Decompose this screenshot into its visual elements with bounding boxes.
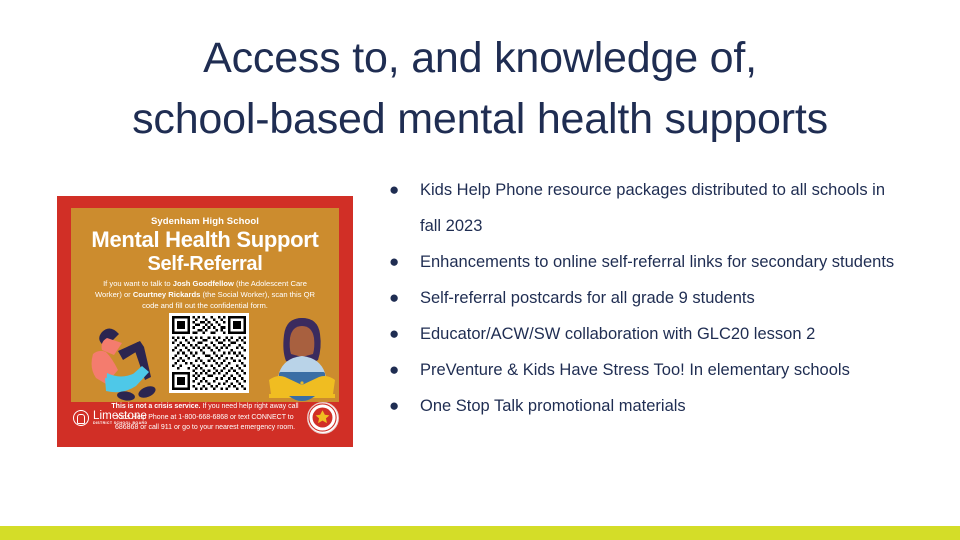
bullet-marker-icon: ● (384, 244, 420, 280)
list-item: ● Educator/ACW/SW collaboration with GLC… (384, 316, 904, 352)
list-item-text: Educator/ACW/SW collaboration with GLC20… (420, 316, 904, 352)
page-title-line-1: Access to, and knowledge of, (60, 28, 900, 89)
qr-code (169, 313, 249, 393)
poster-staff-name-2: Courtney Rickards (133, 290, 201, 299)
list-item-text: Kids Help Phone resource packages distri… (420, 172, 904, 244)
bottom-accent-bar (0, 526, 960, 540)
limestone-logo-subtitle: DISTRICT SCHOOL BOARD (93, 422, 147, 426)
crest-glyph-icon (308, 403, 337, 432)
poster-school-name: Sydenham High School (71, 216, 339, 227)
poster-heading-line-2: Self-Referral (71, 253, 339, 276)
page-title-line-2: school-based mental health supports (60, 89, 900, 150)
list-item-text: One Stop Talk promotional materials (420, 388, 904, 424)
bullet-list: ● Kids Help Phone resource packages dist… (384, 172, 904, 424)
poster-body-text: If you want to talk to Josh Goodfellow (… (89, 279, 321, 311)
bullet-marker-icon: ● (384, 280, 420, 316)
list-item: ● Enhancements to online self-referral l… (384, 244, 904, 280)
school-crest-icon (307, 402, 339, 434)
list-item: ● PreVenture & Kids Have Stress Too! In … (384, 352, 904, 388)
list-item: ● One Stop Talk promotional materials (384, 388, 904, 424)
poster-staff-name-1: Josh Goodfellow (173, 279, 234, 288)
bullet-marker-icon: ● (384, 316, 420, 352)
list-item-text: Enhancements to online self-referral lin… (420, 244, 904, 280)
student-with-laptop-right-illustration (265, 312, 339, 402)
poster-orange-panel: Sydenham High School Mental Health Suppo… (71, 208, 339, 402)
list-item-text: Self-referral postcards for all grade 9 … (420, 280, 904, 316)
poster-footer-bold: This is not a crisis service. (111, 403, 200, 410)
list-item: ● Self-referral postcards for all grade … (384, 280, 904, 316)
student-with-laptop-left-illustration (85, 318, 159, 402)
mental-health-poster-image: Sydenham High School Mental Health Suppo… (57, 196, 353, 447)
page-title: Access to, and knowledge of, school-base… (60, 28, 900, 150)
list-item-text: PreVenture & Kids Have Stress Too! In el… (420, 352, 904, 388)
qr-code-icon (172, 316, 246, 390)
limestone-mark-icon (73, 410, 89, 426)
poster-heading-line-1: Mental Health Support (71, 228, 339, 252)
limestone-logo: Limestone DISTRICT SCHOOL BOARD (73, 410, 147, 426)
bullet-marker-icon: ● (384, 352, 420, 388)
bullet-marker-icon: ● (384, 172, 420, 208)
bullet-marker-icon: ● (384, 388, 420, 424)
poster-body-prefix: If you want to talk to (103, 279, 173, 288)
list-item: ● Kids Help Phone resource packages dist… (384, 172, 904, 244)
